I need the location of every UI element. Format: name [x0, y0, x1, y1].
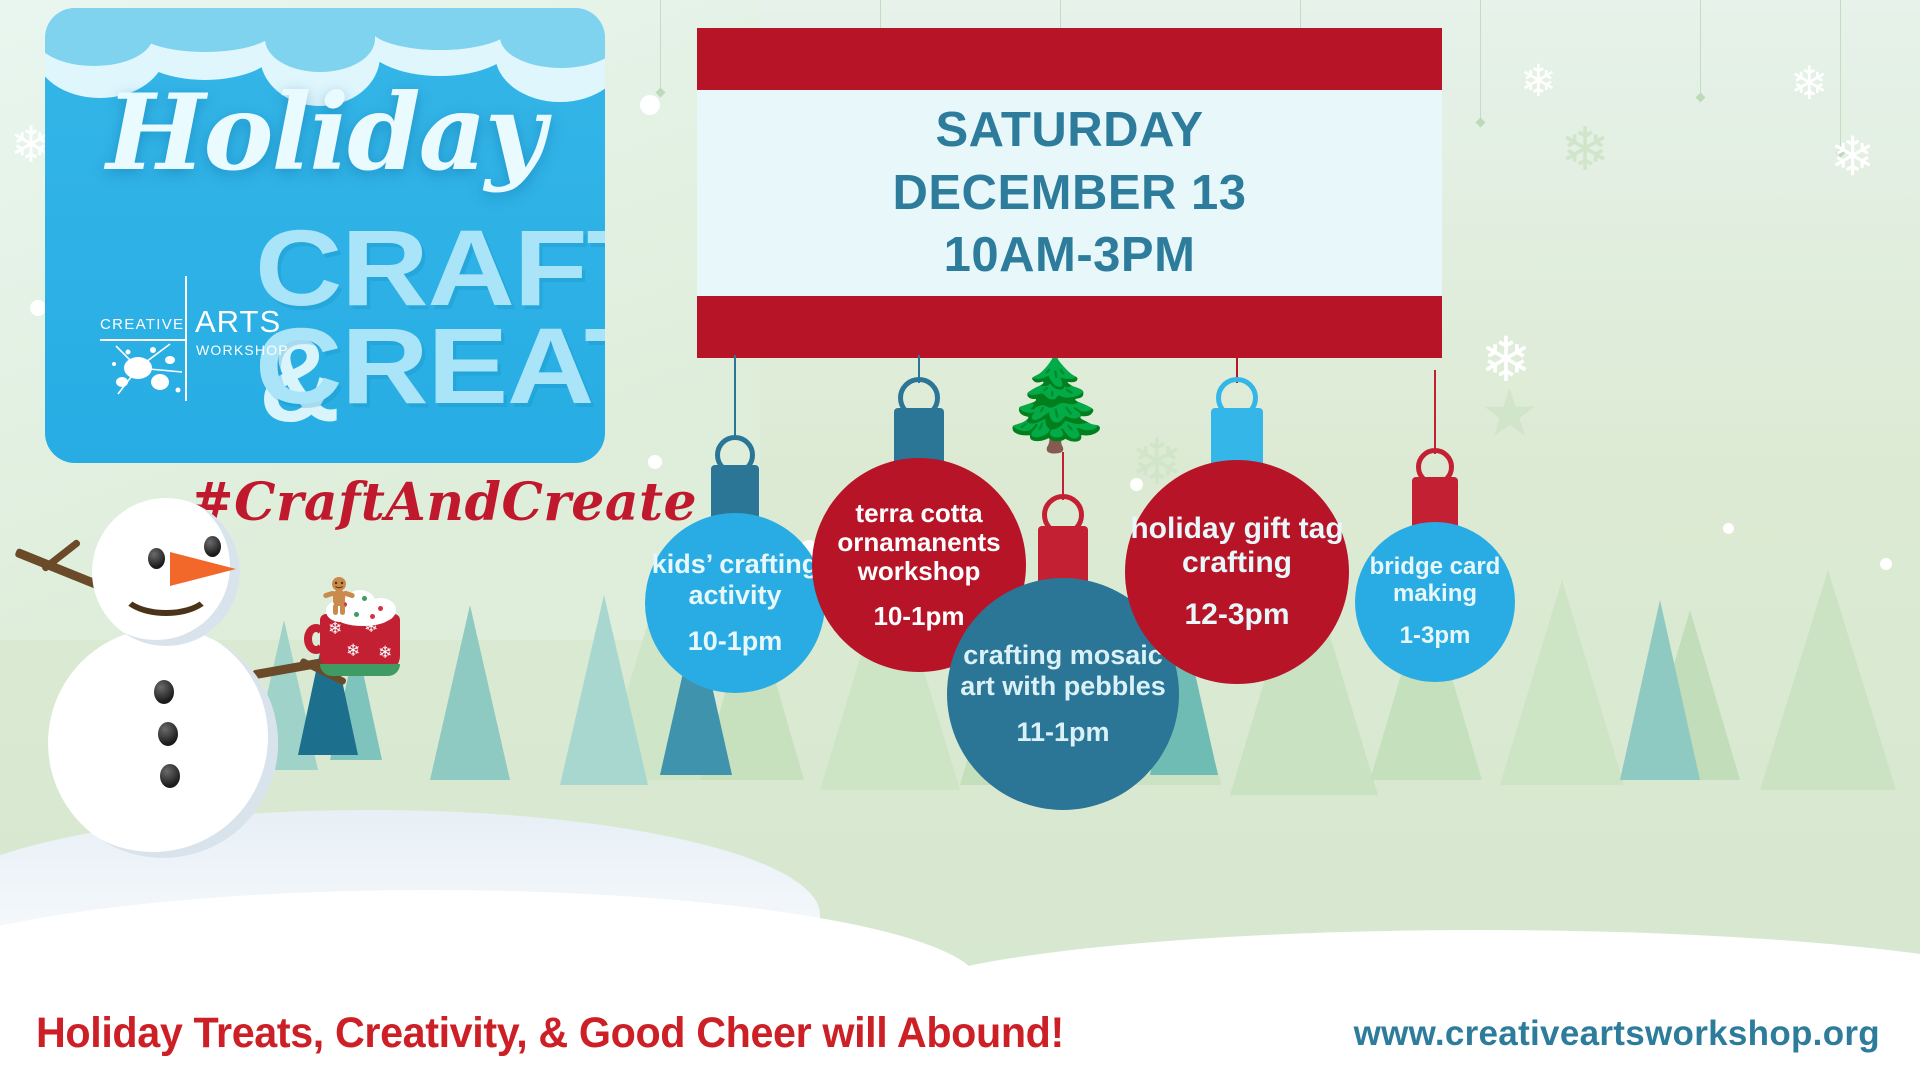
ornament-cap — [1412, 477, 1458, 515]
background-tree — [1500, 580, 1624, 785]
snowman-illustration — [30, 500, 390, 860]
snowman-mouth — [118, 562, 214, 616]
snowflake-icon: ❄ — [1790, 60, 1829, 106]
logo-word-create: CREATE — [255, 316, 605, 415]
ornament-title: kids’ crafting activity — [645, 549, 825, 609]
sprinkle — [378, 606, 383, 611]
hanging-decoration — [660, 0, 661, 90]
icicle — [135, 8, 275, 52]
ornament-cap — [1211, 408, 1263, 452]
accent-tree — [1620, 600, 1700, 780]
snowman-button — [154, 680, 174, 704]
ornament-title: holiday gift tag crafting — [1125, 512, 1349, 579]
ornament-time: 11-1pm — [1016, 717, 1109, 747]
ornament-time: 10-1pm — [688, 626, 783, 656]
snow-dot — [1880, 558, 1892, 570]
ornament-string — [1062, 452, 1064, 500]
snowflake-icon: ❄ — [328, 620, 342, 637]
gingerbread-man-icon — [322, 576, 356, 616]
cocoa-mug-illustration: ❄ ❄ ❄ ❄ — [312, 580, 417, 675]
ornament-bridge-card[interactable]: bridge card making 1-3pm — [1355, 370, 1515, 700]
ornament-time: 12-3pm — [1184, 598, 1289, 632]
logo-text-workshop: WORKSHOP — [196, 342, 289, 358]
banner-date: DECEMBER 13 — [892, 165, 1246, 221]
hanging-decoration — [1700, 0, 1701, 95]
icicle — [265, 8, 375, 72]
ornament-string — [734, 355, 736, 440]
snowman-button — [160, 764, 180, 788]
ornament-cap — [894, 408, 944, 450]
banner-bar-top — [697, 28, 1442, 90]
banner-body: SATURDAY DECEMBER 13 10AM-3PM — [697, 90, 1442, 296]
ornament-time: 1-3pm — [1400, 623, 1471, 650]
snow-dot — [1723, 523, 1734, 534]
ornament-cap — [1038, 526, 1088, 570]
ornament-string — [1434, 370, 1436, 454]
banner-day: SATURDAY — [935, 102, 1203, 158]
snowflake-icon: ❄ — [378, 644, 392, 661]
snowflake-icon: ❄ — [1830, 130, 1875, 184]
sprinkle — [362, 596, 367, 601]
logo-divider-horizontal — [100, 339, 185, 341]
snow-dot — [30, 300, 46, 316]
banner-time: 10AM-3PM — [944, 227, 1196, 283]
ornament-title: bridge card making — [1355, 554, 1515, 608]
ornament-ball: holiday gift tag crafting 12-3pm — [1125, 460, 1349, 684]
snowman-button — [158, 722, 178, 746]
sprinkle — [370, 614, 375, 619]
snowflake-icon: ❄ — [1520, 60, 1557, 104]
website-url[interactable]: www.creativeartsworkshop.org — [1354, 1014, 1880, 1054]
logo-script-word: Holiday — [45, 70, 605, 194]
ornament-kids-crafting[interactable]: kids’ crafting activity 10-1pm — [645, 355, 825, 705]
banner-bar-bottom — [697, 296, 1442, 358]
ornament-ball: bridge card making 1-3pm — [1355, 522, 1515, 682]
footer-tagline: Holiday Treats, Creativity, & Good Cheer… — [36, 1009, 1064, 1058]
logo-card: Holiday & CRAFT CREATE CREATIVE ARTS WOR… — [45, 8, 605, 463]
ornament-cap — [711, 465, 759, 505]
snow-dot — [640, 95, 660, 115]
logo-text-arts: ARTS — [195, 304, 281, 340]
background-tree — [1760, 570, 1896, 790]
mug-base — [320, 664, 400, 676]
ornament-gift-tag[interactable]: holiday gift tag crafting 12-3pm — [1125, 355, 1349, 715]
date-banner: SATURDAY DECEMBER 13 10AM-3PM — [697, 28, 1442, 358]
logo-text-creative: CREATIVE — [100, 316, 182, 333]
accent-tree — [560, 595, 648, 785]
snowflake-icon: ❄ — [346, 642, 360, 659]
accent-tree — [430, 605, 510, 780]
ornament-ball: kids’ crafting activity 10-1pm — [645, 513, 825, 693]
creative-arts-workshop-logo: CREATIVE ARTS WORKSHOP — [100, 276, 265, 401]
logo-word-craft: CRAFT — [255, 218, 605, 317]
hanging-decoration — [1480, 0, 1481, 120]
snowflake-icon: ❄ — [1560, 120, 1610, 180]
icicle — [370, 8, 510, 50]
paint-splatter-icon — [108, 342, 190, 400]
